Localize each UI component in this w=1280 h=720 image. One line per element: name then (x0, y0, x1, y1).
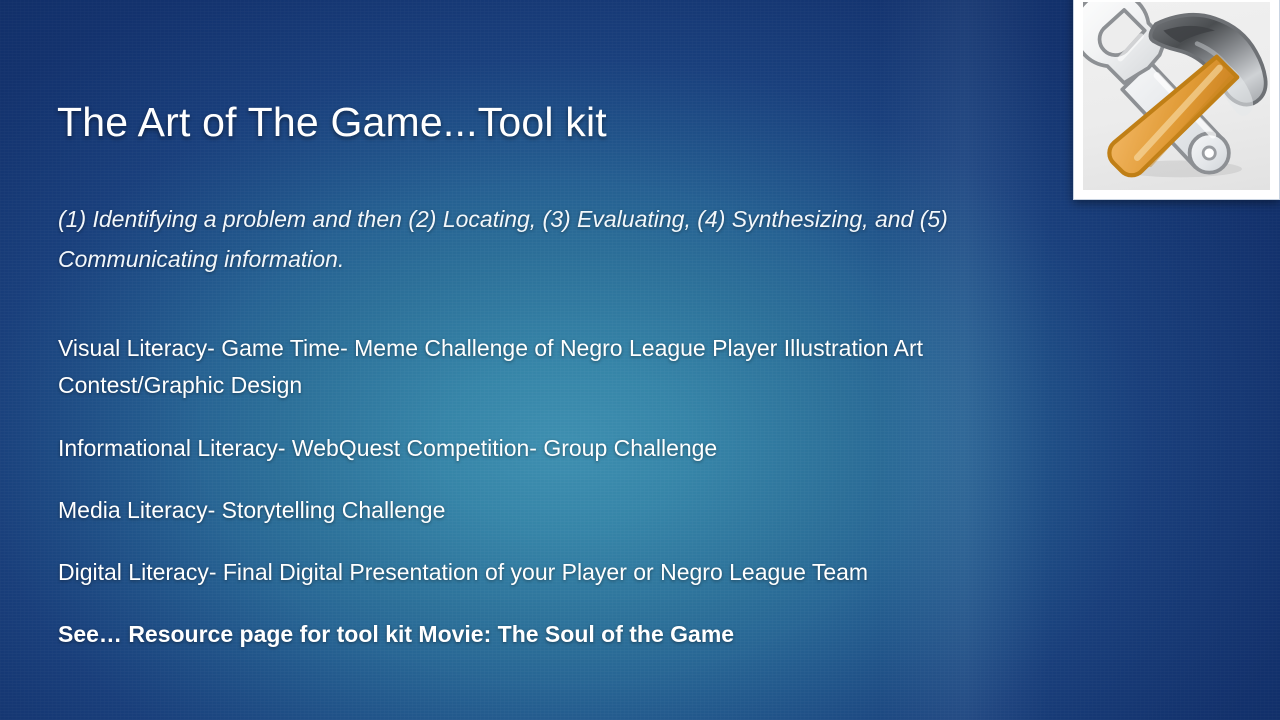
slide-subtitle: (1) Identifying a problem and then (2) L… (58, 200, 1068, 279)
tools-picture-frame (1073, 0, 1280, 200)
body-line-resource-note: See… Resource page for tool kit Movie: T… (58, 616, 1078, 653)
slide-title: The Art of The Game...Tool kit (57, 100, 1057, 146)
body-line-informational-literacy: Informational Literacy- WebQuest Competi… (58, 430, 1078, 467)
slide-body-list: Visual Literacy- Game Time- Meme Challen… (58, 330, 1078, 654)
body-line-digital-literacy: Digital Literacy- Final Digital Presenta… (58, 554, 1078, 591)
body-line-media-literacy: Media Literacy- Storytelling Challenge (58, 492, 1078, 529)
body-line-visual-literacy: Visual Literacy- Game Time- Meme Challen… (58, 330, 1078, 405)
tools-picture (1083, 2, 1270, 190)
hammer-and-wrench-icon (1083, 2, 1270, 190)
presentation-slide: The Art of The Game...Tool kit (1) Ident… (0, 0, 1280, 720)
